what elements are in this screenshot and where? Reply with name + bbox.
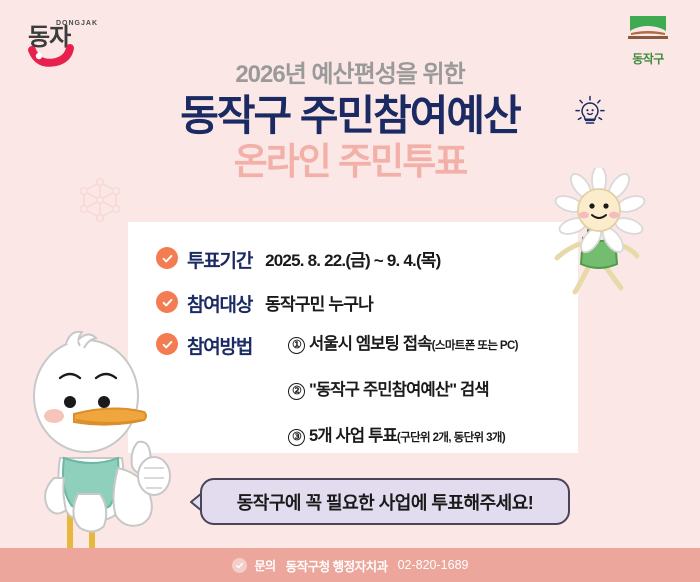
step-text: 서울시 엠보팅 접속 (309, 335, 432, 353)
check-icon (156, 247, 178, 269)
info-label: 참여대상 (187, 290, 252, 317)
list-item: ③5개 사업 투표(구단위 2개, 동단위 3개) (288, 422, 518, 446)
participation-steps: ①서울시 엠보팅 접속(스마트폰 또는 PC) ②"동작구 주민참여예산" 검색… (288, 330, 518, 446)
footer-inquiry-label: 문의 (255, 557, 276, 574)
list-item: ①서울시 엠보팅 접속(스마트폰 또는 PC) (288, 330, 518, 354)
flower-mascot (543, 168, 655, 300)
list-item: ②"동작구 주민참여예산" 검색 (288, 376, 518, 400)
footer-department: 동작구청 행정자치과 (286, 556, 388, 575)
gu-emblem-mark (626, 14, 670, 44)
info-value: 동작구민 누구나 (265, 290, 373, 315)
info-row-vote-period: 투표기간 2025. 8. 22.(금) ~ 9. 4.(목) (156, 246, 441, 273)
call-to-action-text: 동작구에 꼭 필요한 사업에 투표해주세요! (237, 489, 534, 515)
check-icon (232, 558, 247, 573)
step-note: (구단위 2개, 동단위 3개) (397, 432, 505, 444)
call-to-action-bubble: 동작구에 꼭 필요한 사업에 투표해주세요! (200, 478, 570, 525)
step-number: ② (288, 383, 305, 400)
duck-mascot (8, 318, 198, 566)
step-note: (스마트폰 또는 PC) (432, 340, 518, 352)
poster-title-block: 2026년 예산편성을 위한 동작구 주민참여예산 온라인 주민투표 (0, 62, 700, 184)
footer-contact-bar: 문의 동작구청 행정자치과 02-820-1689 (0, 548, 700, 582)
title-eyebrow: 2026년 예산편성을 위한 (0, 62, 700, 88)
step-number: ③ (288, 429, 305, 446)
footer-phone-number[interactable]: 02-820-1689 (398, 558, 469, 572)
page-title: 동작구 주민참여예산 (0, 92, 700, 139)
step-text: "동작구 주민참여예산" 검색 (309, 381, 489, 399)
step-text: 5개 사업 투표 (309, 427, 397, 445)
check-icon (156, 291, 178, 313)
info-row-eligibility: 참여대상 동작구민 누구나 (156, 290, 373, 317)
info-value: 2025. 8. 22.(금) ~ 9. 4.(목) (265, 246, 440, 271)
step-number: ① (288, 337, 305, 354)
info-label: 투표기간 (187, 246, 252, 273)
